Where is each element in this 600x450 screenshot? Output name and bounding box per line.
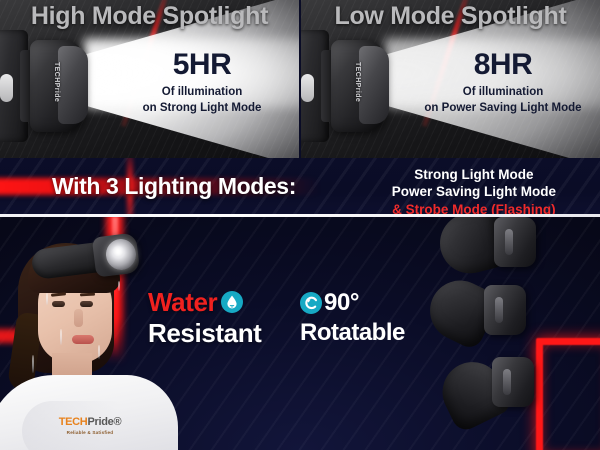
- water-droplet-decor: [32, 355, 34, 373]
- device-brand-label: TECHPride: [354, 62, 361, 102]
- high-mode-subtitle-line1: Of illumination: [113, 85, 291, 101]
- rotatable-label: Rotatable: [300, 321, 405, 345]
- shirt-logo-tagline: Reliable & Satisfied: [34, 430, 146, 435]
- mode-item-2: Power Saving Light Mode: [392, 183, 556, 200]
- section-divider: [0, 214, 600, 217]
- feature-rotatable: 90° Rotatable: [300, 291, 405, 345]
- resistant-label: Resistant: [148, 320, 261, 346]
- features-section: TECHPride® Reliable & Satisfied Water: [0, 217, 600, 450]
- model-nose: [74, 309, 83, 327]
- device-brand-label: TECHPride: [53, 62, 60, 102]
- model-eye-left: [52, 301, 65, 307]
- lighting-modes-list: Strong Light Mode Power Saving Light Mod…: [392, 166, 556, 215]
- shirt-logo-tech: TECH: [59, 416, 88, 428]
- low-mode-panel: TECHPride Low Mode Spotlight 8HR Of illu…: [301, 0, 600, 158]
- rotation-demo-unit-3: [438, 353, 538, 419]
- high-mode-hours: 5HR: [113, 50, 291, 80]
- high-mode-panel: TECHPride High Mode Spotlight 5HR Of ill…: [0, 0, 299, 158]
- shirt-logo-pride: Pride®: [87, 416, 121, 428]
- rotation-demo-unit-1: [440, 217, 540, 279]
- shirt-logo-wordmark: TECHPride®: [34, 417, 146, 428]
- lighting-modes-band: With 3 Lighting Modes: Strong Light Mode…: [0, 158, 600, 215]
- unit-base: [492, 357, 534, 407]
- product-infographic: TECHPride High Mode Spotlight 5HR Of ill…: [0, 0, 600, 450]
- rotation-arrow-icon: [300, 292, 322, 314]
- high-mode-stats: 5HR Of illumination on Strong Light Mode: [113, 50, 291, 117]
- rotation-demo-unit-2: [430, 281, 530, 347]
- low-mode-subtitle-line1: Of illumination: [414, 85, 592, 101]
- water-droplet-decor: [98, 345, 100, 359]
- lighting-modes-headline: With 3 Lighting Modes:: [52, 173, 296, 200]
- mode-item-1: Strong Light Mode: [392, 166, 556, 183]
- unit-base: [484, 285, 526, 335]
- headlamp-device: TECHPride: [301, 28, 405, 146]
- rotatable-row: 90°: [300, 291, 405, 315]
- water-droplet-decor: [118, 281, 120, 291]
- red-neon-rectangle: [536, 338, 600, 450]
- shirt-brand-logo: TECHPride® Reliable & Satisfied: [34, 417, 146, 435]
- low-mode-stats: 8HR Of illumination on Power Saving Ligh…: [414, 50, 592, 117]
- water-droplet-icon: [221, 291, 243, 313]
- spotlight-panels-row: TECHPride High Mode Spotlight 5HR Of ill…: [0, 0, 600, 158]
- water-label: Water: [148, 289, 217, 315]
- low-mode-hours: 8HR: [414, 50, 592, 80]
- high-mode-subtitle: Of illumination on Strong Light Mode: [113, 85, 291, 117]
- rotation-degrees: 90°: [324, 291, 359, 315]
- water-resistant-row: Water: [148, 289, 261, 315]
- headlamp-device: TECHPride: [0, 28, 104, 146]
- model-eye-right: [80, 301, 93, 307]
- low-mode-subtitle: Of illumination on Power Saving Light Mo…: [414, 85, 592, 117]
- water-droplet-decor: [46, 293, 48, 305]
- high-mode-subtitle-line2: on Strong Light Mode: [113, 101, 291, 117]
- high-mode-title: High Mode Spotlight: [0, 2, 299, 31]
- feature-water-resistant: Water Resistant: [148, 289, 261, 346]
- unit-base: [494, 217, 536, 267]
- mode-item-3: & Strobe Mode (Flashing): [392, 201, 556, 215]
- low-mode-subtitle-line2: on Power Saving Light Mode: [414, 101, 592, 117]
- model-lips: [72, 335, 94, 344]
- headlamp-lens: [359, 46, 389, 124]
- headlamp-lens: [58, 46, 88, 124]
- low-mode-title: Low Mode Spotlight: [301, 2, 600, 31]
- water-droplet-decor: [60, 329, 62, 345]
- worn-headlamp: [32, 231, 150, 283]
